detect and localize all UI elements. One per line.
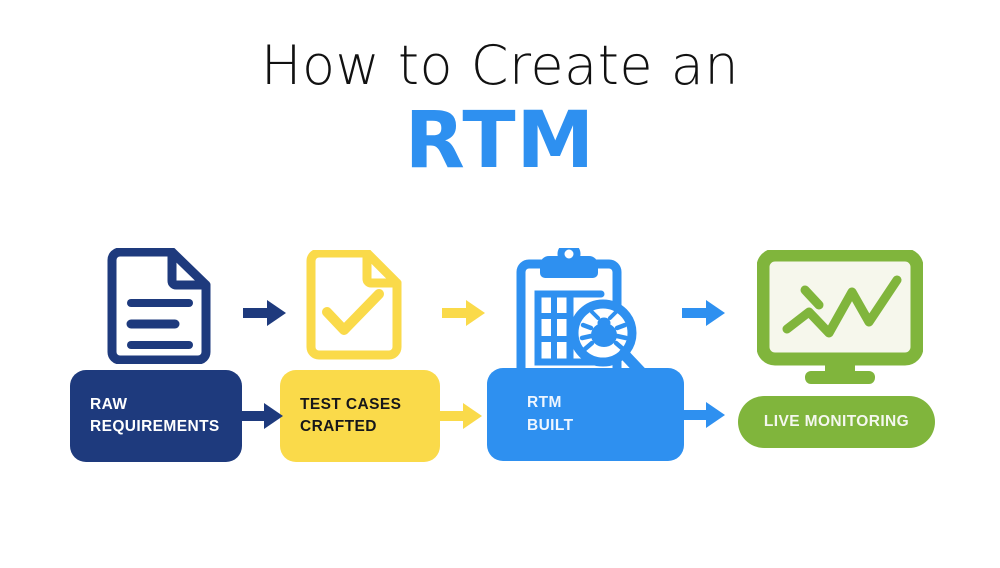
arrow-bottom-2-icon — [439, 402, 483, 430]
arrow-top-1-icon — [243, 299, 287, 327]
step-card-label: TEST CASES CRAFTED — [300, 394, 401, 439]
monitor-chart-icon — [757, 250, 923, 390]
arrow-top-3-icon — [682, 299, 726, 327]
infographic-canvas: How to Create an RTM — [0, 0, 1000, 568]
step-card-raw-requirements[interactable]: RAW REQUIREMENTS — [70, 370, 242, 462]
document-check-icon — [303, 250, 405, 362]
arrow-bottom-1-icon — [240, 402, 284, 430]
arrow-bottom-3-icon — [682, 401, 726, 429]
step-card-live-monitoring[interactable]: LIVE MONITORING — [738, 396, 935, 448]
step-card-label: RTM BUILT — [527, 392, 573, 437]
step-card-label: RAW REQUIREMENTS — [90, 394, 220, 439]
clipboard-magnifier-bug-icon — [505, 248, 647, 388]
arrow-top-2-icon — [442, 299, 486, 327]
document-lines-icon — [103, 248, 215, 364]
process-flow: RAW REQUIREMENTS TEST CASES CRAFTED RTM … — [0, 0, 1000, 568]
step-card-test-cases-crafted[interactable]: TEST CASES CRAFTED — [280, 370, 440, 462]
step-card-rtm-built[interactable]: RTM BUILT — [487, 368, 684, 461]
step-card-label: LIVE MONITORING — [764, 411, 909, 433]
